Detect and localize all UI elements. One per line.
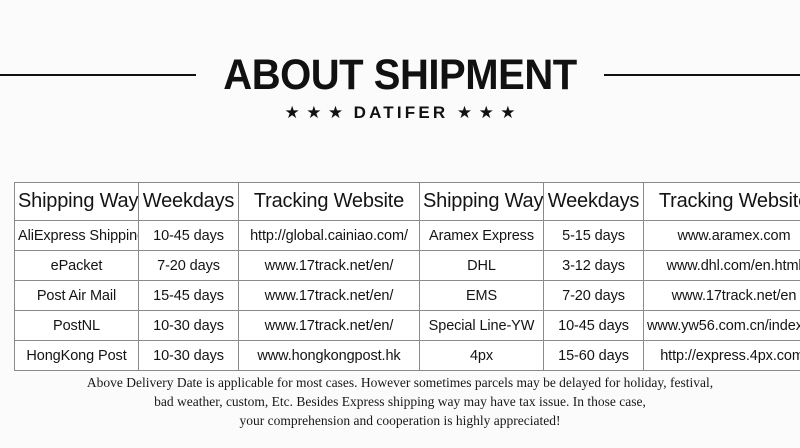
table-header: Shipping Way Weekdays Tracking Website S… [15, 183, 800, 221]
cell-shipping-way: Post Air Mail [15, 281, 139, 311]
table-body: AliExpress Shipping 10-45 days http://gl… [15, 221, 800, 371]
column-header-tracking-website-2: Tracking Website [644, 183, 800, 221]
cell-tracking-website[interactable]: www.dhl.com/en.html [644, 251, 800, 281]
brand-row: ★ ★ ★ DATIFER ★ ★ ★ [0, 103, 800, 123]
star-icon: ★ [500, 103, 515, 123]
page-header: ABOUT SHIPMENT ★ ★ ★ DATIFER ★ ★ ★ [0, 0, 800, 168]
cell-tracking-website[interactable]: www.17track.net/en/ [239, 251, 420, 281]
table-row: AliExpress Shipping 10-45 days http://gl… [15, 221, 800, 251]
table-header-row: Shipping Way Weekdays Tracking Website S… [15, 183, 800, 221]
star-icon: ★ [457, 103, 472, 123]
cell-shipping-way: Aramex Express [420, 221, 544, 251]
cell-shipping-way: ePacket [15, 251, 139, 281]
cell-shipping-way: 4px [420, 341, 544, 371]
cell-tracking-website[interactable]: www.17track.net/en/ [239, 311, 420, 341]
column-header-shipping-way-1: Shipping Way [15, 183, 139, 221]
title-rule-left [0, 74, 196, 76]
cell-tracking-website[interactable]: http://express.4px.com/ [644, 341, 800, 371]
cell-weekdays: 10-30 days [139, 311, 239, 341]
cell-shipping-way: EMS [420, 281, 544, 311]
cell-shipping-way: Special Line-YW [420, 311, 544, 341]
cell-tracking-website[interactable]: www.17track.net/en/ [239, 281, 420, 311]
column-header-tracking-website-1: Tracking Website [239, 183, 420, 221]
cell-tracking-website[interactable]: www.yw56.com.cn/index.aspx [644, 311, 800, 341]
column-header-shipping-way-2: Shipping Way [420, 183, 544, 221]
cell-weekdays: 10-45 days [544, 311, 644, 341]
cell-weekdays: 15-45 days [139, 281, 239, 311]
table-row: Post Air Mail 15-45 days www.17track.net… [15, 281, 800, 311]
title-row: ABOUT SHIPMENT [0, 49, 800, 101]
cell-tracking-website[interactable]: www.17track.net/en [644, 281, 800, 311]
star-icon: ★ [306, 103, 321, 123]
column-header-weekdays-1: Weekdays [139, 183, 239, 221]
cell-weekdays: 10-30 days [139, 341, 239, 371]
delivery-disclaimer: Above Delivery Date is applicable for mo… [0, 373, 800, 430]
cell-shipping-way: DHL [420, 251, 544, 281]
cell-weekdays: 15-60 days [544, 341, 644, 371]
cell-weekdays: 7-20 days [139, 251, 239, 281]
cell-weekdays: 10-45 days [139, 221, 239, 251]
cell-weekdays: 3-12 days [544, 251, 644, 281]
page-title: ABOUT SHIPMENT [223, 51, 576, 99]
table-row: ePacket 7-20 days www.17track.net/en/ DH… [15, 251, 800, 281]
table-row: HongKong Post 10-30 days www.hongkongpos… [15, 341, 800, 371]
star-icon: ★ [479, 103, 494, 123]
cell-shipping-way: AliExpress Shipping [15, 221, 139, 251]
cell-tracking-website[interactable]: www.aramex.com [644, 221, 800, 251]
cell-shipping-way: HongKong Post [15, 341, 139, 371]
star-icon: ★ [284, 103, 299, 123]
cell-tracking-website[interactable]: http://global.cainiao.com/ [239, 221, 420, 251]
disclaimer-line-2: bad weather, custom, Etc. Besides Expres… [0, 392, 800, 411]
title-rule-right [604, 74, 800, 76]
cell-weekdays: 7-20 days [544, 281, 644, 311]
table-row: PostNL 10-30 days www.17track.net/en/ Sp… [15, 311, 800, 341]
disclaimer-line-3: your comprehension and cooperation is hi… [0, 411, 800, 430]
cell-weekdays: 5-15 days [544, 221, 644, 251]
star-icon: ★ [328, 103, 343, 123]
column-header-weekdays-2: Weekdays [544, 183, 644, 221]
shipping-methods-table: Shipping Way Weekdays Tracking Website S… [14, 182, 800, 371]
brand-name: DATIFER [354, 103, 449, 123]
cell-tracking-website[interactable]: www.hongkongpost.hk [239, 341, 420, 371]
cell-shipping-way: PostNL [15, 311, 139, 341]
disclaimer-line-1: Above Delivery Date is applicable for mo… [0, 373, 800, 392]
